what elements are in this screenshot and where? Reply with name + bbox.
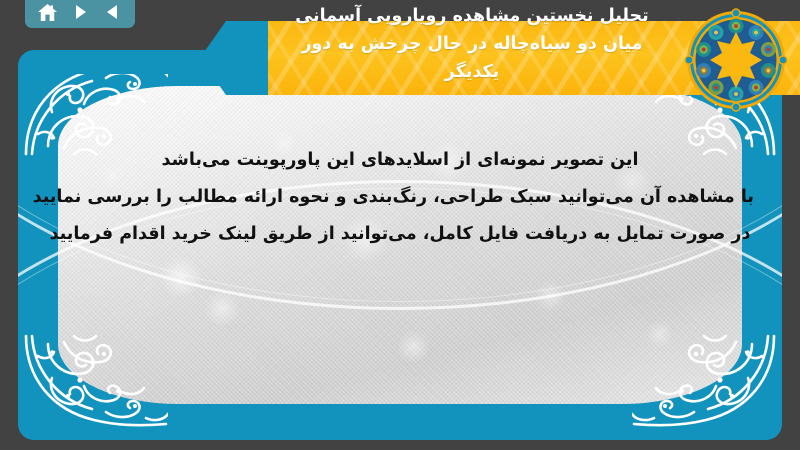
previous-slide-button[interactable]: [102, 1, 124, 23]
title-band-strip: [55, 60, 215, 74]
slide-navigation-bar: [25, 0, 135, 28]
triangle-right-icon: [70, 2, 90, 22]
slide-frame: این تصویر نمونه‌ای از اسلایدهای این پاور…: [18, 50, 782, 440]
slide-viewer-window: این تصویر نمونه‌ای از اسلایدهای این پاور…: [0, 0, 800, 450]
triangle-left-icon: [103, 2, 123, 22]
home-button[interactable]: [36, 1, 58, 23]
next-slide-button[interactable]: [69, 1, 91, 23]
home-icon: [37, 2, 58, 23]
slide-content-panel: [58, 86, 742, 404]
persian-medallion-icon: [684, 8, 788, 112]
